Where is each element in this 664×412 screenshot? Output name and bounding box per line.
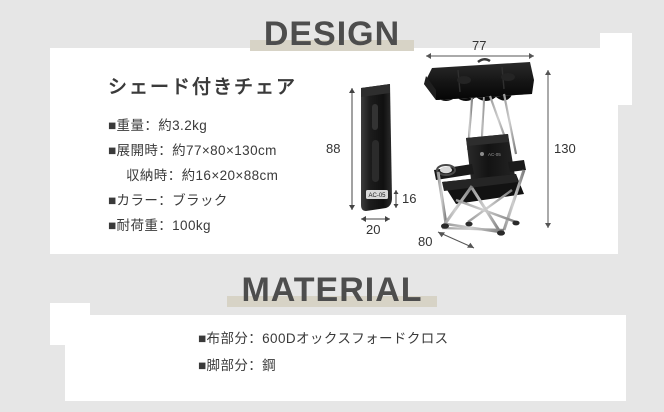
spec-folded-size: 収納時：約16×20×88cm bbox=[108, 163, 338, 188]
chair-figure: AC-05 bbox=[412, 42, 612, 258]
material-frame: ■脚部分：鋼 bbox=[198, 352, 618, 379]
spec-weight: ■重量：約3.2kg bbox=[108, 113, 338, 138]
product-title: シェード付きチェア bbox=[108, 72, 338, 99]
product-spec-sheet: DESIGN シェード付きチェア ■重量：約3.2kg ■展開時：約77×80×… bbox=[0, 0, 664, 412]
chair-height-label: 130 bbox=[554, 141, 576, 156]
svg-text:AC-05: AC-05 bbox=[368, 193, 386, 199]
material-heading-text: MATERIAL bbox=[241, 271, 422, 309]
shade-chair-illustration: AC-05 bbox=[412, 42, 612, 258]
spec-capacity: ■耐荷重：100kg bbox=[108, 213, 338, 238]
design-heading-text: DESIGN bbox=[264, 15, 400, 53]
bag-height-label: 88 bbox=[326, 141, 340, 156]
chair-width-label: 77 bbox=[472, 38, 486, 53]
svg-text:AC-05: AC-05 bbox=[488, 152, 501, 157]
design-spec-block: シェード付きチェア ■重量：約3.2kg ■展開時：約77×80×130cm 収… bbox=[108, 72, 338, 238]
material-section-heading: MATERIAL bbox=[0, 270, 664, 310]
spec-color: ■カラー：ブラック bbox=[108, 188, 338, 213]
material-fabric: ■布部分：600Dオックスフォードクロス bbox=[198, 325, 618, 352]
material-spec-block: ■布部分：600Dオックスフォードクロス ■脚部分：鋼 bbox=[198, 325, 618, 379]
spec-open-size: ■展開時：約77×80×130cm bbox=[108, 138, 338, 163]
chair-depth-label: 80 bbox=[418, 234, 432, 249]
bag-width-label: 20 bbox=[366, 222, 380, 237]
